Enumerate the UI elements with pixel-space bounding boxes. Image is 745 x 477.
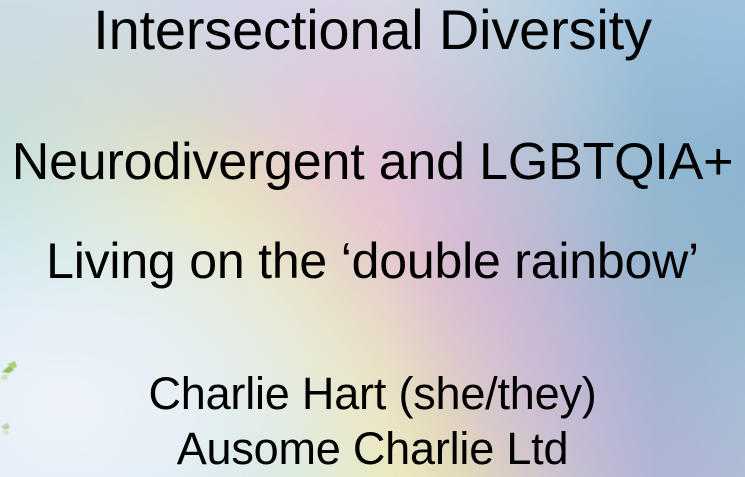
organisation-name: Ausome Charlie Ltd: [0, 426, 745, 471]
slide-title: Intersectional Diversity: [0, 2, 745, 58]
presentation-slide: Intersectional Diversity Neurodivergent …: [0, 0, 745, 477]
presenter-name: Charlie Hart (she/they): [0, 371, 745, 416]
slide-subtitle-two: Living on the ‘double rainbow’: [0, 236, 745, 286]
slide-text-block: Intersectional Diversity Neurodivergent …: [0, 0, 745, 477]
slide-subtitle-one: Neurodivergent and LGBTQIA+: [0, 136, 745, 188]
